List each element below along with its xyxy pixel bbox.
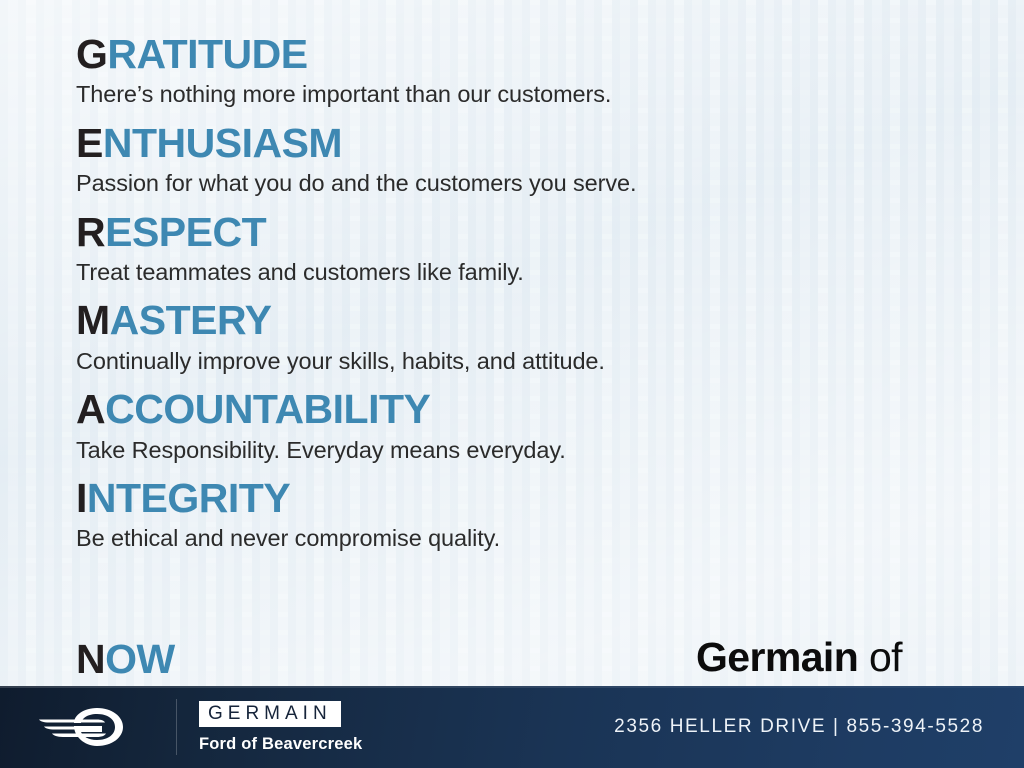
value-heading-rest: NTHUSIASM [103, 120, 342, 166]
brand-wordmark: Germain of [696, 634, 902, 681]
germain-wordmark-text: GERMAIN [208, 704, 332, 723]
value-block-integrity: INTEGRITY Be ethical and never compromis… [76, 476, 1006, 554]
footer-bar: GERMAIN Ford of Beavercreek 2356 HELLER … [0, 686, 1024, 768]
value-description: Passion for what you do and the customer… [76, 168, 1006, 199]
values-poster: GRATITUDE There’s nothing more important… [0, 0, 1024, 768]
germain-lockup: GERMAIN Ford of Beavercreek [199, 701, 362, 753]
value-heading-rest: RATITUDE [107, 31, 307, 77]
footer-divider [176, 699, 177, 755]
value-heading-lead-letter: I [76, 475, 87, 521]
value-block-accountability: ACCOUNTABILITY Take Responsibility. Ever… [76, 387, 1006, 465]
value-heading-lead-letter: M [76, 297, 110, 343]
footer-branding: GERMAIN Ford of Beavercreek [0, 699, 362, 755]
dealership-name: Ford of Beavercreek [199, 736, 362, 753]
footer-top-hairline [0, 686, 1024, 688]
footer-address-phone: 2356 HELLER DRIVE | 855-394-5528 [614, 716, 984, 738]
value-block-enthusiasm: ENTHUSIASM Passion for what you do and t… [76, 121, 1006, 199]
value-block-gratitude: GRATITUDE There’s nothing more important… [76, 32, 1006, 110]
value-heading: MASTERY [76, 298, 1006, 342]
value-heading: INTEGRITY [76, 476, 1006, 520]
value-description: Take Responsibility. Everyday means ever… [76, 435, 1006, 466]
value-heading-rest: CCOUNTABILITY [105, 386, 430, 432]
value-heading-lead-letter: A [76, 386, 105, 432]
core-values-list: GRATITUDE There’s nothing more important… [76, 32, 1006, 565]
value-heading: RESPECT [76, 210, 1006, 254]
value-heading-lead-letter: G [76, 31, 107, 77]
brand-wordmark-light: of [858, 634, 902, 680]
value-description: Be ethical and never compromise quality. [76, 523, 1006, 554]
value-description: There’s nothing more important than our … [76, 79, 1006, 110]
value-heading-rest: ASTERY [110, 297, 272, 343]
value-heading-rest: OW [105, 636, 175, 682]
value-heading: GRATITUDE [76, 32, 1006, 76]
value-description: Continually improve your skills, habits,… [76, 346, 1006, 377]
value-block-respect: RESPECT Treat teammates and customers li… [76, 210, 1006, 288]
value-heading-lead-letter: N [76, 636, 105, 682]
value-heading-rest: NTEGRITY [87, 475, 290, 521]
value-heading-lead-letter: R [76, 209, 105, 255]
value-heading-now: NOW [76, 636, 175, 683]
germain-wordmark-box: GERMAIN [199, 701, 341, 727]
value-heading: ACCOUNTABILITY [76, 387, 1006, 431]
value-heading: ENTHUSIASM [76, 121, 1006, 165]
value-heading-rest: ESPECT [105, 209, 266, 255]
value-description: Treat teammates and customers like famil… [76, 257, 1006, 288]
value-heading-lead-letter: E [76, 120, 103, 166]
brand-wordmark-bold: Germain [696, 634, 858, 680]
value-block-mastery: MASTERY Continually improve your skills,… [76, 298, 1006, 376]
germain-winged-g-icon [38, 704, 146, 750]
